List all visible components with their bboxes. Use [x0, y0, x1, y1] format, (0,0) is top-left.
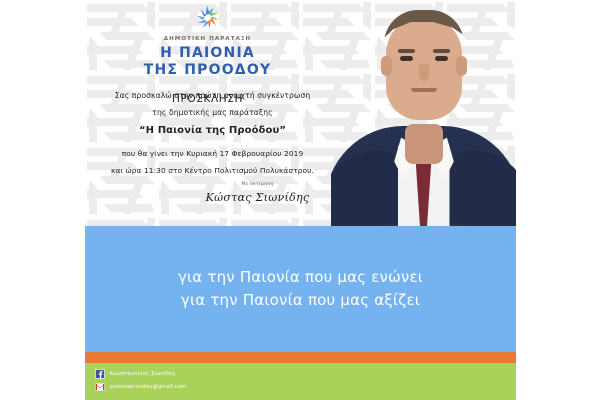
contact-footer: Κωνσταντίνος Σιωνίδης paioniaproodou@gma… [85, 363, 516, 400]
signature-kicker: Με εκτίμηση [175, 182, 340, 187]
portrait-eye-right [435, 56, 448, 61]
portrait-neck [405, 124, 443, 164]
candidate-portrait [331, 0, 516, 226]
signature-block: Με εκτίμηση Κώστας Σιωνίδης [175, 182, 340, 204]
slogan-line: για την Παιονία που μας αξίζει [181, 289, 420, 312]
invitation-body: Σας προσκαλώ στην πρώτη ανοιχτή συγκέντρ… [85, 92, 340, 184]
body-line: που θα γίνει την Κυριακή 17 Φεβρουαρίου … [85, 150, 340, 158]
slogan-line: για την Παιονία που μας ενώνει [178, 266, 423, 289]
portrait-mouth [411, 88, 437, 92]
orange-divider [85, 352, 516, 363]
signature-name: Κώστας Σιωνίδης [175, 191, 340, 204]
paionia-starburst-logo-icon [191, 4, 225, 34]
invitation-poster: ΔΗΜΟΤΙΚΗ ΠΑΡΑΤΑΞΗ Η ΠΑΙΟΝΙΑ ΤΗΣ ΠΡΟΟΔΟΥ … [0, 0, 600, 400]
email-address: paioniaproodou@gmail.com [110, 384, 186, 390]
facebook-handle: Κωνσταντίνος Σιωνίδης [110, 371, 176, 377]
portrait-brow-right [433, 49, 450, 53]
logo-kicker: ΔΗΜΟΤΙΚΗ ΠΑΡΑΤΑΞΗ [85, 36, 330, 42]
party-name-quote: “Η Παιονία της Προόδου” [85, 126, 340, 137]
facebook-contact[interactable]: Κωνσταντίνος Σιωνίδης [95, 369, 176, 379]
party-logo-block: ΔΗΜΟΤΙΚΗ ΠΑΡΑΤΑΞΗ Η ΠΑΙΟΝΙΑ ΤΗΣ ΠΡΟΟΔΟΥ … [85, 0, 330, 105]
logo-line-2: ΤΗΣ ΠΡΟΟΔΟΥ [85, 62, 330, 79]
logo-line-1: Η ΠΑΙΟΝΙΑ [85, 45, 330, 62]
body-line: και ώρα 11:30 στο Κέντρο Πολιτισμού Πολυ… [85, 167, 340, 175]
email-contact[interactable]: paioniaproodou@gmail.com [95, 382, 186, 392]
slogan-band: για την Παιονία που μας ενώνει για την Π… [85, 226, 516, 352]
poster-content-card: ΔΗΜΟΤΙΚΗ ΠΑΡΑΤΑΞΗ Η ΠΑΙΟΝΙΑ ΤΗΣ ΠΡΟΟΔΟΥ … [85, 0, 516, 400]
facebook-icon [95, 369, 105, 379]
portrait-brow-left [398, 49, 415, 53]
body-line: Σας προσκαλώ στην πρώτη ανοιχτή συγκέντρ… [85, 92, 340, 100]
portrait-ear-right [456, 56, 467, 76]
gmail-envelope-icon [95, 382, 105, 392]
portrait-eye-left [400, 56, 413, 61]
body-line: της δημοτικής μας παράταξης [85, 109, 340, 117]
portrait-ear-left [381, 56, 392, 76]
portrait-nose [419, 64, 429, 81]
